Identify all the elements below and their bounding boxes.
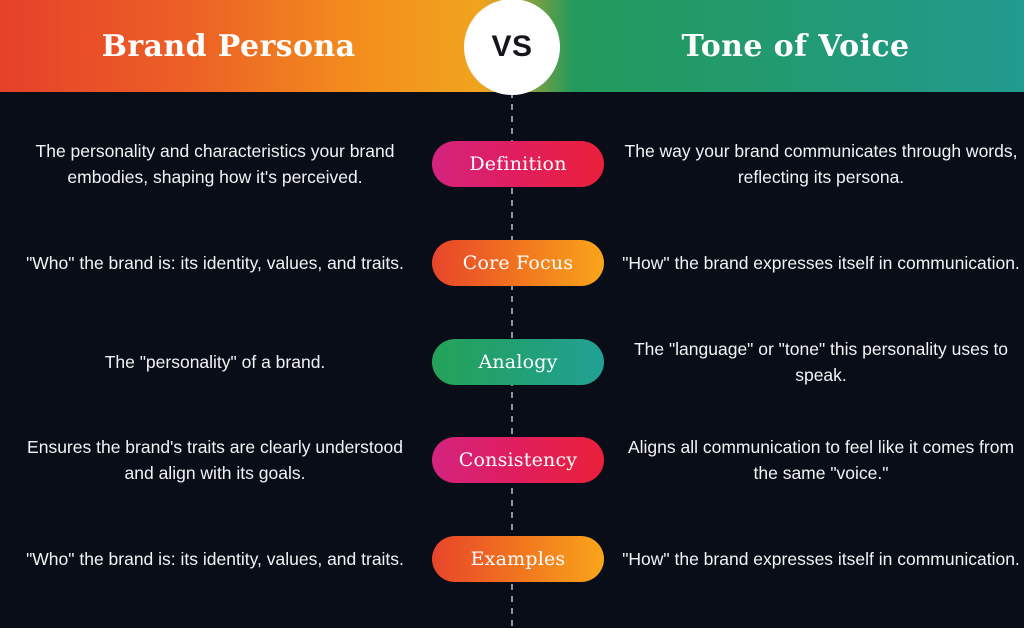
row-badge-examples: Examples [432,536,604,582]
comparison-rows: The personality and characteristics your… [0,92,1024,628]
row-right-description: "How" the brand expresses itself in comm… [606,250,1024,276]
row-left-description: The personality and characteristics your… [0,138,430,190]
row-badge-consistency: Consistency [432,437,604,483]
row-badge-cell: Consistency [432,437,604,483]
row-badge-core-focus: Core Focus [432,240,604,286]
row-badge-cell: Core Focus [432,240,604,286]
row-left-description: Ensures the brand's traits are clearly u… [0,434,430,486]
row-left-description: The "personality" of a brand. [0,349,430,375]
row-right-description: The "language" or "tone" this personalit… [606,336,1024,388]
comparison-row: The "personality" of a brand. Analogy Th… [0,313,1024,411]
comparison-row: "Who" the brand is: its identity, values… [0,214,1024,312]
row-badge-cell: Examples [432,536,604,582]
comparison-infographic: Brand Persona Tone of Voice VS The perso… [0,0,1024,628]
row-left-description: "Who" the brand is: its identity, values… [0,546,430,572]
right-column-title: Tone of Voice [567,29,1024,64]
row-right-description: The way your brand communicates through … [606,138,1024,190]
left-column-title: Brand Persona [0,29,457,64]
row-badge-cell: Analogy [432,339,604,385]
row-left-description: "Who" the brand is: its identity, values… [0,250,430,276]
vs-badge: VS [464,0,560,95]
comparison-row: "Who" the brand is: its identity, values… [0,510,1024,608]
row-badge-definition: Definition [432,141,604,187]
comparison-row: The personality and characteristics your… [0,115,1024,213]
vs-label: VS [491,30,532,64]
row-badge-analogy: Analogy [432,339,604,385]
row-right-description: "How" the brand expresses itself in comm… [606,546,1024,572]
row-badge-cell: Definition [432,141,604,187]
comparison-row: Ensures the brand's traits are clearly u… [0,411,1024,509]
row-right-description: Aligns all communication to feel like it… [606,434,1024,486]
